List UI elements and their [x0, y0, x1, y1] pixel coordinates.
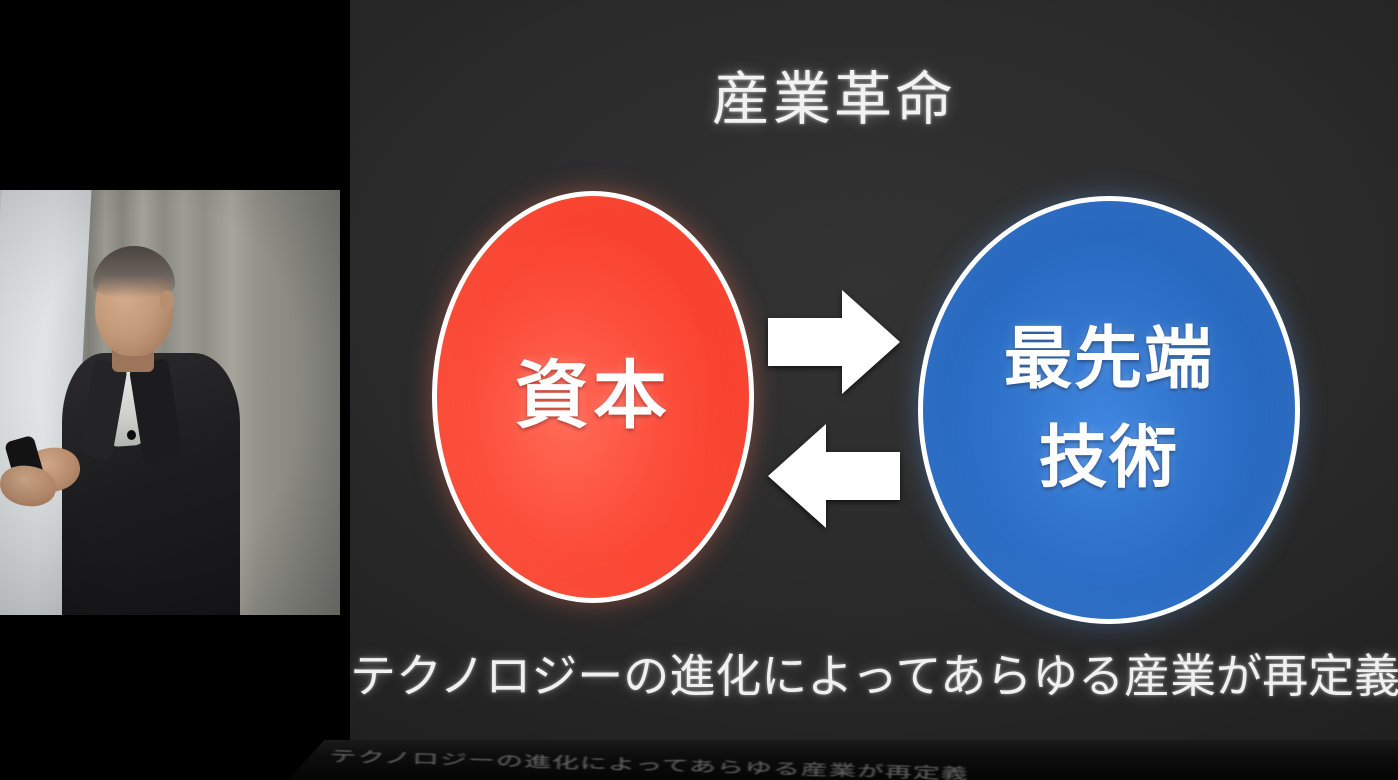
- slide-title: 産業革命: [0, 70, 1398, 128]
- inset-vignette: [0, 190, 340, 615]
- presentation-screenshot: 産業革命 資本 最先端 技術 テクノロジーの進化によってあらゆる産業が再定義 テ…: [0, 0, 1398, 780]
- bubble-technology-label: 最先端 技術: [1004, 311, 1214, 508]
- presenter-video-inset: [0, 190, 340, 615]
- caption-reflection: テクノロジーの進化によってあらゆる産業が再定義: [329, 744, 1329, 780]
- slide-caption: テクノロジーの進化によってあらゆる産業が再定義: [350, 652, 1390, 700]
- bubble-technology-label-line2: 技術: [1039, 419, 1179, 498]
- bubble-capital-label: 資本: [515, 354, 671, 439]
- bubble-capital: 資本: [432, 191, 754, 603]
- bubble-technology-label-line1: 最先端: [1004, 320, 1214, 399]
- arrow-right-icon: [768, 286, 900, 398]
- bubble-technology: 最先端 技術: [918, 196, 1300, 624]
- arrow-left-icon: [768, 420, 900, 532]
